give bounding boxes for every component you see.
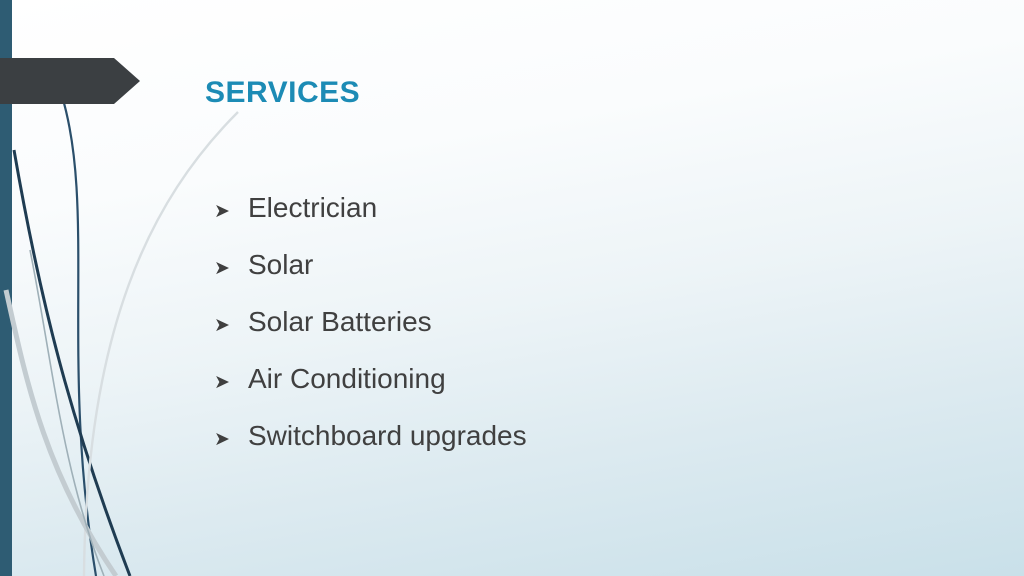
list-item: ➤ Electrician: [214, 192, 914, 249]
bullet-arrow-icon: ➤: [214, 316, 248, 335]
bullet-arrow-icon: ➤: [214, 202, 248, 221]
list-item-label: Air Conditioning: [248, 363, 446, 395]
page-title: SERVICES: [205, 76, 360, 110]
list-item: ➤ Solar Batteries: [214, 306, 914, 363]
bullet-arrow-icon: ➤: [214, 373, 248, 392]
list-item: ➤ Solar: [214, 249, 914, 306]
services-list: ➤ Electrician ➤ Solar ➤ Solar Batteries …: [214, 192, 914, 477]
list-item-label: Solar: [248, 249, 313, 281]
list-item-label: Solar Batteries: [248, 306, 432, 338]
list-item-label: Switchboard upgrades: [248, 420, 527, 452]
list-item: ➤ Switchboard upgrades: [214, 420, 914, 477]
list-item-label: Electrician: [248, 192, 377, 224]
bullet-arrow-icon: ➤: [214, 430, 248, 449]
bullet-arrow-icon: ➤: [214, 259, 248, 278]
title-banner-arrow: [0, 58, 140, 104]
list-item: ➤ Air Conditioning: [214, 363, 914, 420]
slide-canvas: SERVICES ➤ Electrician ➤ Solar ➤ Solar B…: [0, 0, 1024, 576]
